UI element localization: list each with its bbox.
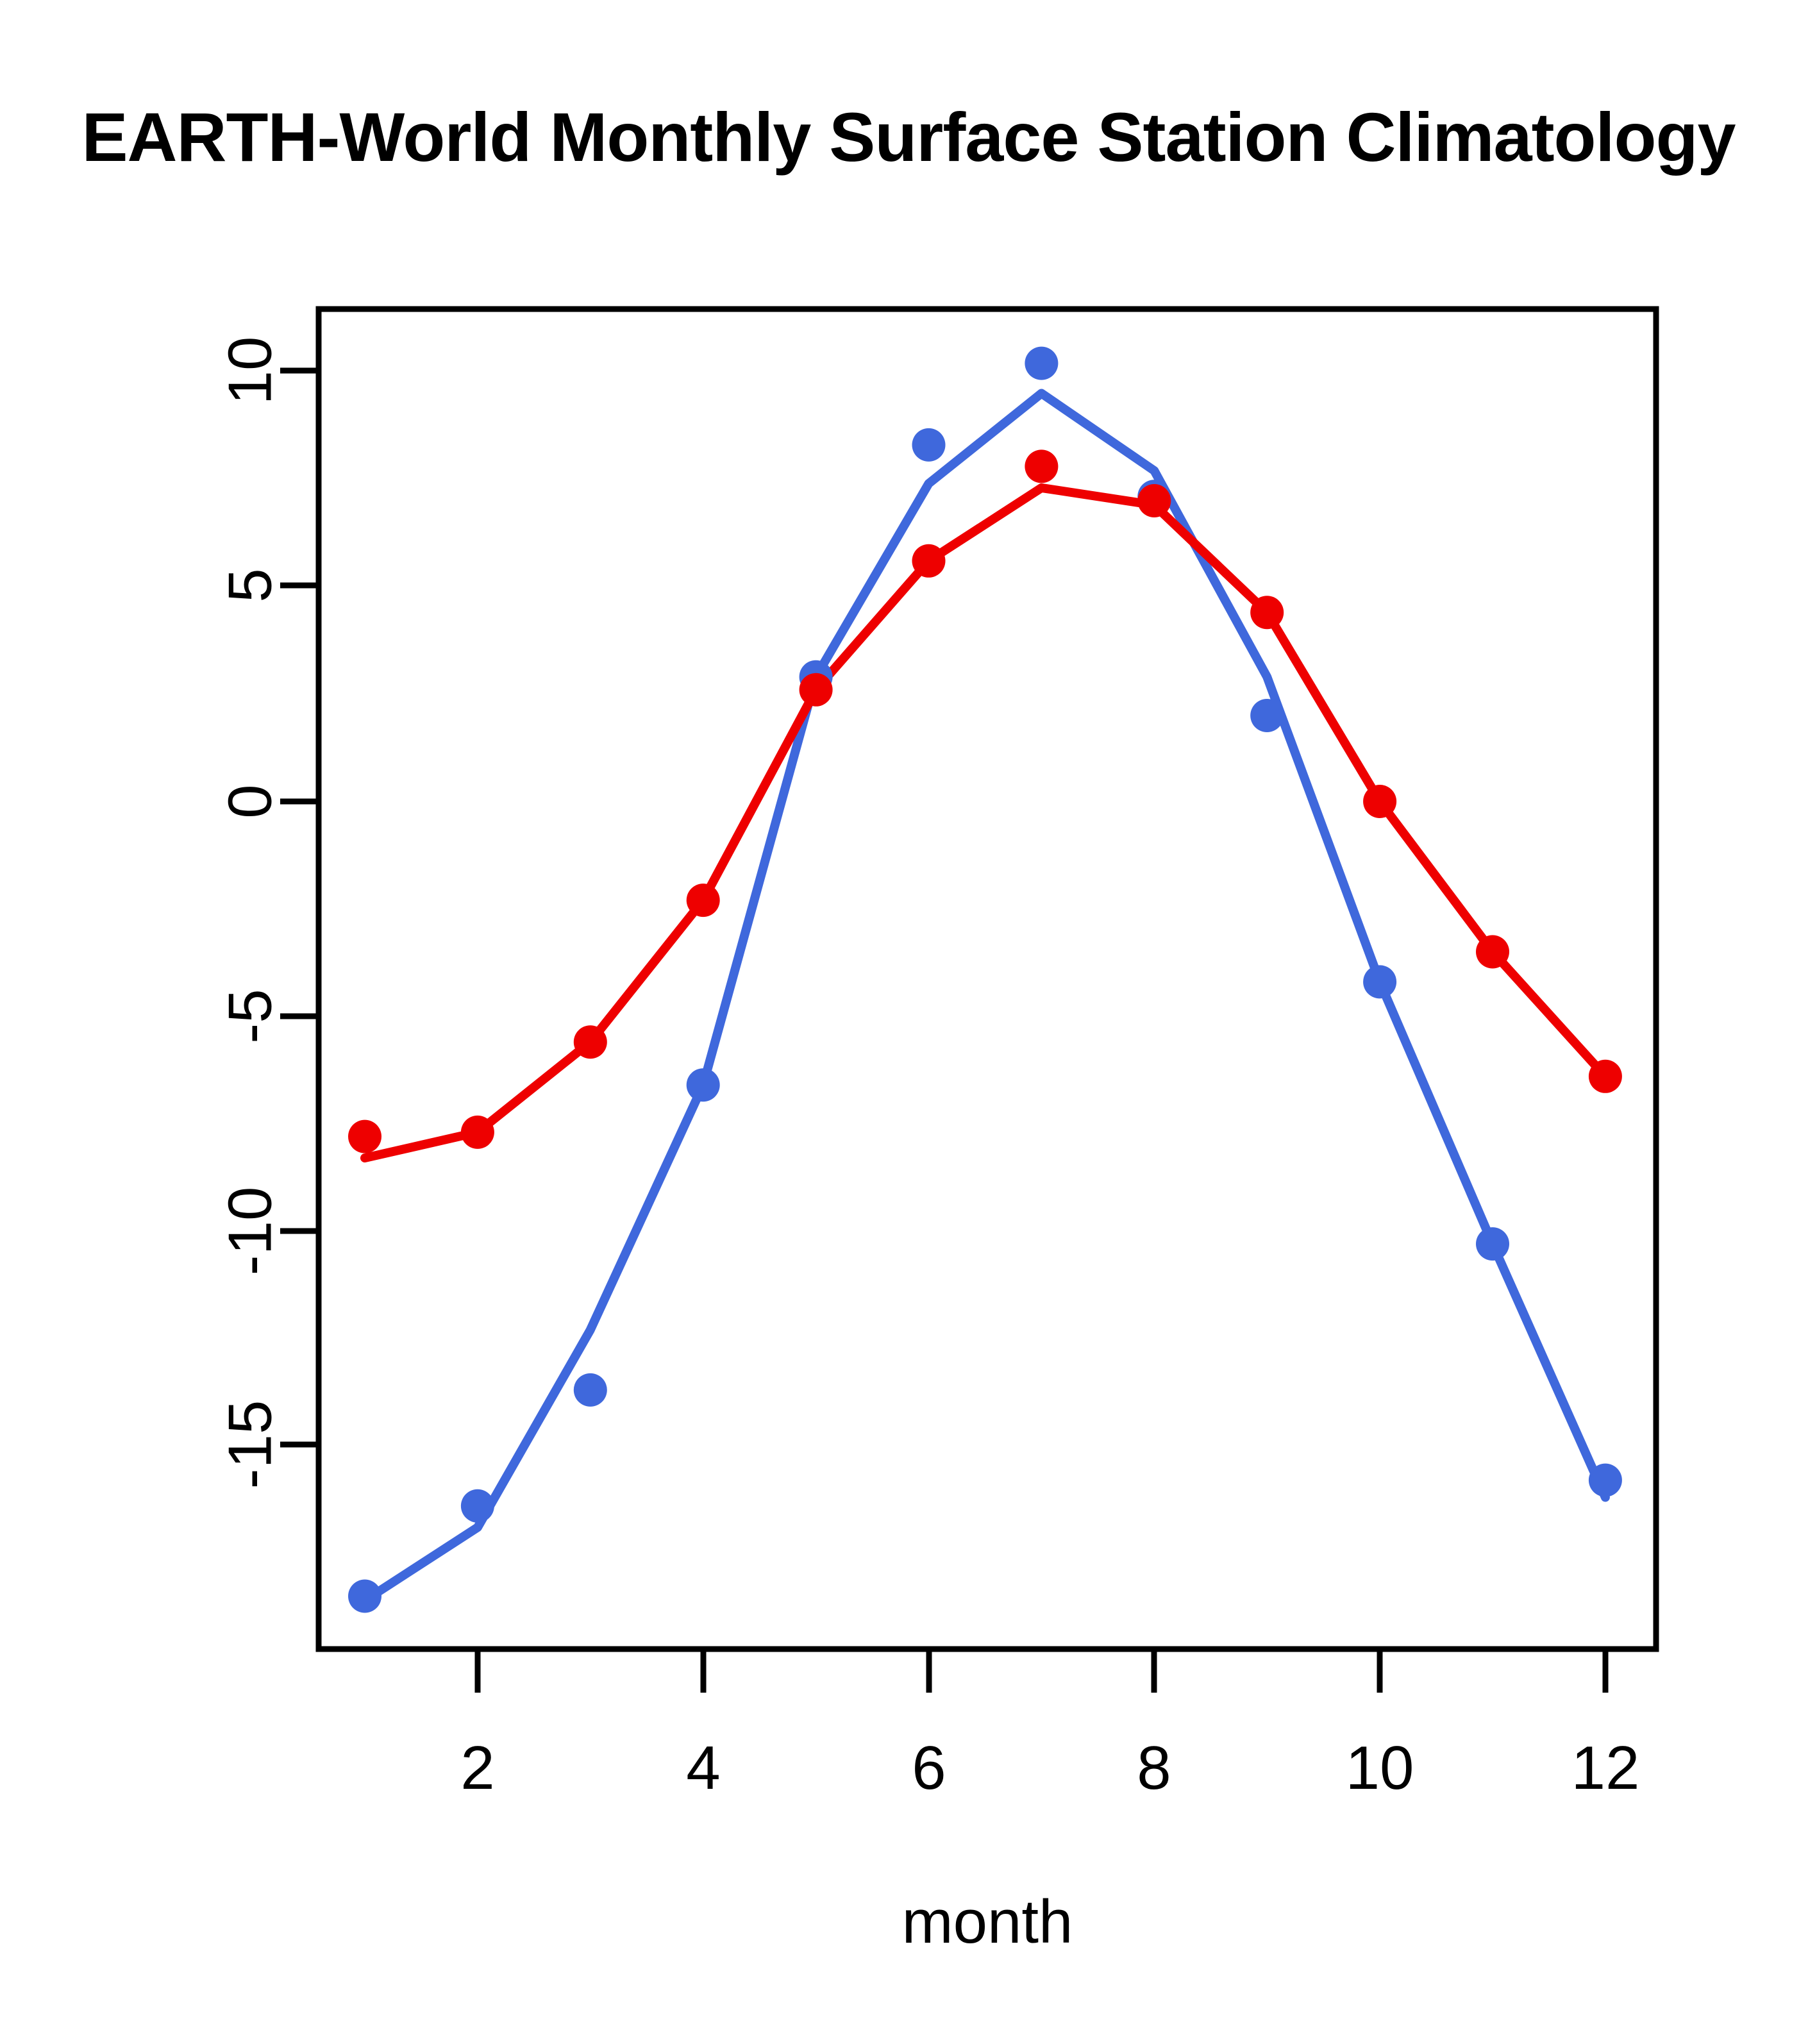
- data-point: [461, 1489, 494, 1523]
- data-point: [1025, 449, 1058, 483]
- climatology-line-chart: 10 5 0 -5 -10 -15 2 4 6 8 10 12 month: [0, 0, 1817, 2044]
- red-series-markers: [348, 449, 1622, 1153]
- data-point: [348, 1120, 381, 1153]
- data-point: [1250, 596, 1284, 629]
- y-axis-labels: 10 5 0 -5 -10 -15: [216, 337, 285, 1489]
- y-axis-ticks: [280, 371, 319, 1445]
- data-point: [574, 1025, 607, 1059]
- x-axis-labels: 2 4 6 8 10 12: [460, 1734, 1639, 1802]
- data-point: [348, 1580, 381, 1613]
- x-tick-label-10: 10: [1346, 1734, 1414, 1802]
- y-tick-label-0: 0: [216, 784, 285, 818]
- x-tick-label-4: 4: [686, 1734, 720, 1802]
- data-point: [687, 1068, 720, 1102]
- red-series-line: [365, 488, 1605, 1158]
- data-point: [1476, 935, 1509, 969]
- data-point: [461, 1116, 494, 1149]
- data-point: [1363, 785, 1396, 818]
- y-tick-label-5: 5: [216, 568, 285, 602]
- data-point: [687, 884, 720, 917]
- data-point: [574, 1373, 607, 1407]
- data-point: [912, 428, 946, 462]
- x-tick-label-6: 6: [912, 1734, 946, 1802]
- x-tick-label-12: 12: [1571, 1734, 1640, 1802]
- y-tick-label-neg5: -5: [216, 989, 285, 1043]
- data-point: [912, 544, 946, 578]
- data-point: [1476, 1227, 1509, 1261]
- data-point: [1025, 347, 1058, 380]
- y-tick-label-neg15: -15: [216, 1400, 285, 1489]
- data-point: [1589, 1464, 1622, 1497]
- data-point: [800, 673, 833, 707]
- y-tick-label-neg10: -10: [216, 1187, 285, 1276]
- blue-series-line: [365, 394, 1605, 1601]
- data-point: [1137, 484, 1171, 517]
- y-tick-label-10: 10: [216, 337, 285, 405]
- data-point: [1589, 1060, 1622, 1093]
- data-point: [1250, 699, 1284, 732]
- data-point: [1363, 965, 1396, 998]
- x-tick-label-8: 8: [1137, 1734, 1171, 1802]
- x-axis-title: month: [902, 1888, 1073, 1956]
- x-axis-ticks: [478, 1649, 1605, 1693]
- x-tick-label-2: 2: [460, 1734, 494, 1802]
